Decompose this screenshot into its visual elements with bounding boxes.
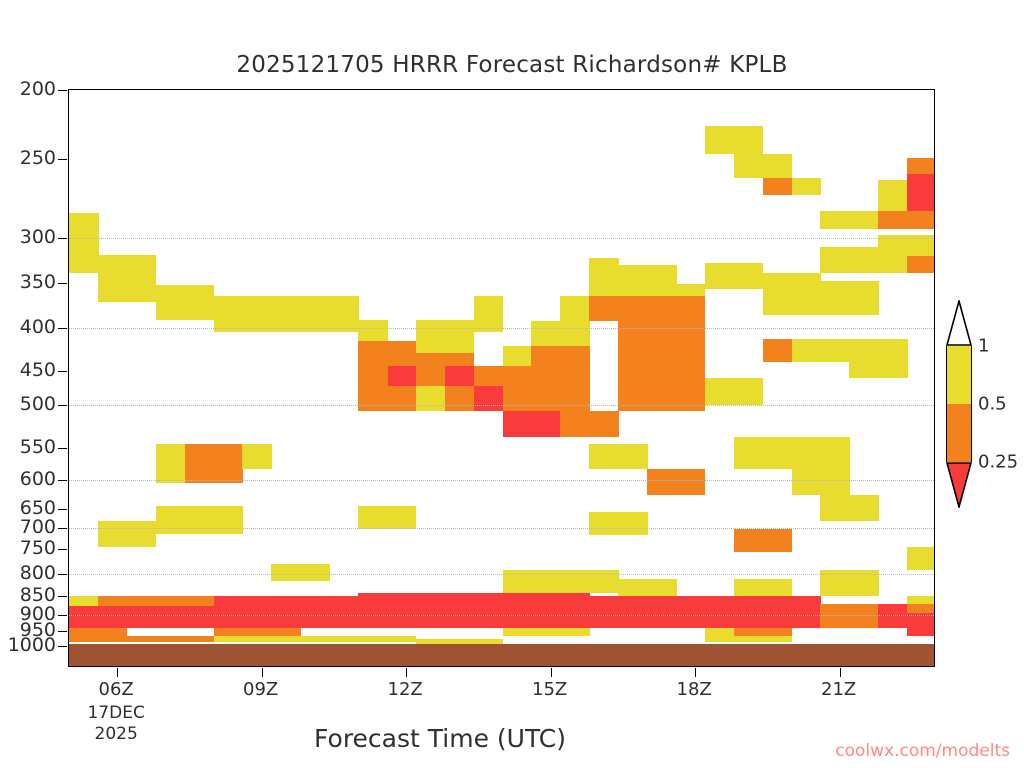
heatmap-cell [503,411,533,436]
heatmap-cell [618,444,648,469]
heatmap-cell [242,296,272,332]
x-axis-tick [695,668,696,677]
heatmap-cell [185,444,215,483]
heatmap-cell [763,579,793,596]
heatmap-cell [820,495,850,521]
heatmap-cell [156,285,186,320]
heatmap-cell [734,378,764,405]
heatmap-cell [676,284,706,296]
y-axis-tick [58,405,67,406]
heatmap-cell [820,211,850,228]
heatmap-cell [445,320,475,353]
x-axis-label: 15Z [532,679,567,700]
watermark: coolwx.com/modelts [835,741,1010,761]
heatmap-cell [503,628,533,637]
y-axis-tick [58,448,67,449]
colorbar-label: 0.25 [978,452,1018,473]
y-axis-tick [58,328,67,329]
heatmap-cell [98,628,128,637]
heatmap-cell [560,321,590,346]
heatmap-cell [589,296,619,321]
heatmap-cell [503,346,533,366]
heatmap-cell [878,211,908,228]
heatmap-cell [907,613,934,636]
heatmap-cell [907,256,934,272]
colorbar-under-cap [946,462,972,508]
heatmap-cell [445,593,475,628]
date-line-1: 17DEC [87,703,144,724]
heatmap-cell [69,636,99,642]
heatmap-cell [98,255,128,302]
gridline [69,480,934,481]
heatmap-cell [907,174,934,212]
heatmap-cell [618,579,648,596]
heatmap-cell [416,593,446,628]
y-axis-label: 350 [20,271,56,293]
x-axis-label: 21Z [821,679,856,700]
heatmap-cell [329,636,359,642]
x-axis-tick [551,668,552,677]
heatmap-cell [185,285,215,320]
heatmap-cell [849,211,879,228]
heatmap-cell [156,606,186,627]
heatmap-cell [185,636,215,642]
heatmap-cell [531,593,561,628]
gridline [69,615,934,616]
heatmap-cell [734,628,764,637]
heatmap-cell [271,564,301,581]
heatmap-cell [329,596,359,627]
y-axis-label: 200 [20,78,56,100]
heatmap-cell [300,564,330,581]
y-axis-tick [58,549,67,550]
heatmap-cell [589,411,619,436]
y-axis-label: 250 [20,147,56,169]
heatmap-cell [705,596,735,627]
heatmap-cell [69,606,99,627]
heatmap-cell [416,353,446,366]
heatmap-cell [474,593,504,628]
heatmap-cell [907,547,934,570]
heatmap-cell [300,636,330,642]
heatmap-cell [705,378,735,405]
heatmap-cell [763,339,793,362]
y-axis-label: 450 [20,359,56,381]
heatmap-cell [503,570,533,593]
y-axis-tick [58,90,67,91]
heatmap-cell [705,126,735,154]
x-axis-label: 12Z [388,679,423,700]
heatmap-cell [705,636,735,642]
heatmap-cell [849,281,879,316]
heatmap-cell [214,296,244,332]
heatmap-cell [416,320,446,353]
y-axis-tick [58,615,67,616]
heatmap-cell [242,636,272,642]
heatmap-cell [358,593,388,628]
heatmap-cell [878,339,908,378]
heatmap-cell [329,296,359,332]
heatmap-cell [820,437,850,469]
heatmap-cell [676,596,706,627]
heatmap-cell [416,366,446,386]
heatmap-cell [820,604,850,627]
heatmap-cell [820,469,850,494]
gridline [69,405,934,406]
heatmap-cell [271,596,301,627]
heatmap-cell [589,596,619,627]
heatmap-cell [763,154,793,178]
y-axis-label: 1000 [8,634,56,656]
heatmap-cell [705,628,735,637]
heatmap-cell [214,506,244,534]
heatmap-cell [560,628,590,637]
gridline [69,238,934,239]
colorbar-over-cap [946,300,972,346]
heatmap-cell [387,506,417,529]
heatmap-cell [127,596,157,606]
heatmap-cell [416,386,446,411]
gridline [69,528,934,529]
heatmap-cell [618,512,648,535]
heatmap-cell [763,273,793,316]
heatmap-cell [792,596,822,627]
heatmap-cell [849,604,879,627]
heatmap-cell [849,495,879,521]
heatmap-cell [98,606,128,627]
heatmap-cell [531,570,561,593]
heatmap-cell [792,273,822,316]
heatmap-cell [387,386,417,411]
heatmap-cell [734,579,764,596]
y-axis-label: 300 [20,226,56,248]
heatmap-cell [358,320,388,341]
heatmap-cell [705,263,735,289]
heatmap-cell [676,296,706,412]
heatmap-cell [531,628,561,637]
heatmap-cell [560,593,590,628]
heatmap-cell [763,529,793,552]
page-title: 2025121705 HRRR Forecast Richardson# KPL… [0,52,1024,78]
heatmap-cell [763,636,793,642]
heatmap-cell [503,593,533,628]
heatmap-cell [589,258,619,296]
y-axis-tick [58,238,67,239]
x-axis-label: 06Z [99,679,134,700]
heatmap-cell [271,628,301,637]
heatmap-cell [763,596,793,627]
heatmap-cell [792,469,822,494]
heatmap-cell [98,596,128,606]
chart-page: 2025121705 HRRR Forecast Richardson# KPL… [0,0,1024,768]
heatmap-cell [214,444,244,483]
heatmap-cells [69,90,934,666]
heatmap-cell [474,386,504,411]
terrain-band [69,644,934,666]
heatmap-cell [300,296,330,332]
heatmap-cell [242,628,272,637]
heatmap-cell [820,247,850,272]
heatmap-cell [271,636,301,642]
heatmap-cell [734,126,764,154]
heatmap-cell [763,437,793,469]
heatmap-cell [387,593,417,628]
heatmap-cell [734,636,764,642]
heatmap-cell [69,596,99,606]
x-axis-tick [117,668,118,677]
heatmap-cell [474,296,504,332]
heatmap-cell [647,469,677,494]
heatmap-cell [300,596,330,627]
y-axis-tick [58,480,67,481]
heatmap-cell [792,437,822,469]
y-axis-tick [58,371,67,372]
heatmap-cell [734,437,764,469]
y-axis-label: 550 [20,436,56,458]
heatmap-cell [734,529,764,552]
heatmap-cell [849,339,879,378]
heatmap-cell [531,411,561,436]
heatmap-cell [560,570,590,593]
heatmap-cell [358,386,388,411]
heatmap-cell [185,596,215,606]
heatmap-cell [156,596,186,606]
colorbar-segment-yellow [946,346,972,404]
heatmap-cell [358,636,388,642]
y-axis-label: 800 [20,562,56,584]
y-axis-tick [58,159,67,160]
heatmap-cell [445,366,475,386]
heatmap-cell [358,506,388,529]
heatmap-cell [531,346,561,411]
heatmap-cell [589,512,619,535]
colorbar-label: 0.5 [978,394,1007,415]
heatmap-cell [878,604,908,627]
y-axis-tick [58,509,67,510]
heatmap-cell [127,255,157,302]
heatmap-cell [647,596,677,627]
heatmap-cell [358,366,388,386]
heatmap-cell [618,296,648,367]
heatmap-cell [156,444,186,483]
heatmap-cell [560,411,590,436]
heatmap-cell [185,606,215,627]
heatmap-cell [127,606,157,627]
heatmap-cell [907,158,934,174]
heatmap-cell [792,339,822,362]
heatmap-cell [878,180,908,212]
heatmap-cell [358,341,388,366]
heatmap-cell [849,247,879,272]
heatmap-cell [387,341,417,366]
heatmap-cell [242,444,272,469]
heatmap-cell [127,521,157,547]
heatmap-cell [820,281,850,316]
heatmap-cell [214,596,244,627]
heatmap-cell [387,636,417,642]
heatmap-cell [589,570,619,593]
heatmap-cell [647,579,677,596]
heatmap-cell [589,444,619,469]
heatmap-cell [560,296,590,321]
heatmap-cell [618,596,648,627]
heatmap-cell [763,628,793,637]
y-axis-tick [58,574,67,575]
x-axis-label: 18Z [677,679,712,700]
heatmap-cell [560,346,590,411]
x-axis-label: 09Z [243,679,278,700]
colorbar-segment-orange [946,404,972,462]
heatmap-cell [907,604,934,613]
heatmap-cell [647,265,677,296]
heatmap-cell [185,506,215,534]
y-axis-tick [58,631,67,632]
heatmap-cell [734,263,764,289]
gridline [69,574,934,575]
heatmap-cell [69,213,99,273]
y-axis-tick [58,596,67,597]
heatmap-cell [531,321,561,346]
heatmap-cell [907,596,934,604]
heatmap-cell [214,636,244,642]
heatmap-cell [242,596,272,627]
heatmap-cell [734,154,764,178]
y-axis-label: 400 [20,316,56,338]
y-axis-tick [58,528,67,529]
heatmap-cell [676,469,706,494]
heatmap-cell [214,628,244,637]
heatmap-cell [878,235,908,273]
heatmap-cell [618,265,648,296]
heatmap-cell [820,339,850,362]
heatmap-cell [907,211,934,228]
plot-area [68,89,935,667]
gridline [69,328,934,329]
heatmap-cell [792,178,822,195]
heatmap-cell [474,366,504,386]
colorbar-label: 1 [978,336,989,357]
y-axis-label: 600 [20,468,56,490]
heatmap-cell [98,521,128,547]
heatmap-cell [156,506,186,534]
colorbar: 10.50.25 [946,300,972,508]
heatmap-cell [763,178,793,195]
y-axis-tick [58,283,67,284]
y-axis-label: 750 [20,537,56,559]
heatmap-cell [69,628,99,637]
heatmap-cell [445,386,475,411]
heatmap-cell [734,596,764,627]
x-axis-tick [262,668,263,677]
x-axis-title: Forecast Time (UTC) [0,724,880,753]
x-axis-tick [840,668,841,677]
y-axis-tick [58,646,67,647]
heatmap-cell [156,636,186,642]
x-axis-tick [406,668,407,677]
y-axis-label: 700 [20,516,56,538]
heatmap-cell [387,366,417,386]
heatmap-cell [271,296,301,332]
heatmap-cell [127,636,157,642]
y-axis-label: 500 [20,393,56,415]
heatmap-cell [647,296,677,412]
heatmap-cell [98,636,128,642]
heatmap-cell [445,353,475,366]
